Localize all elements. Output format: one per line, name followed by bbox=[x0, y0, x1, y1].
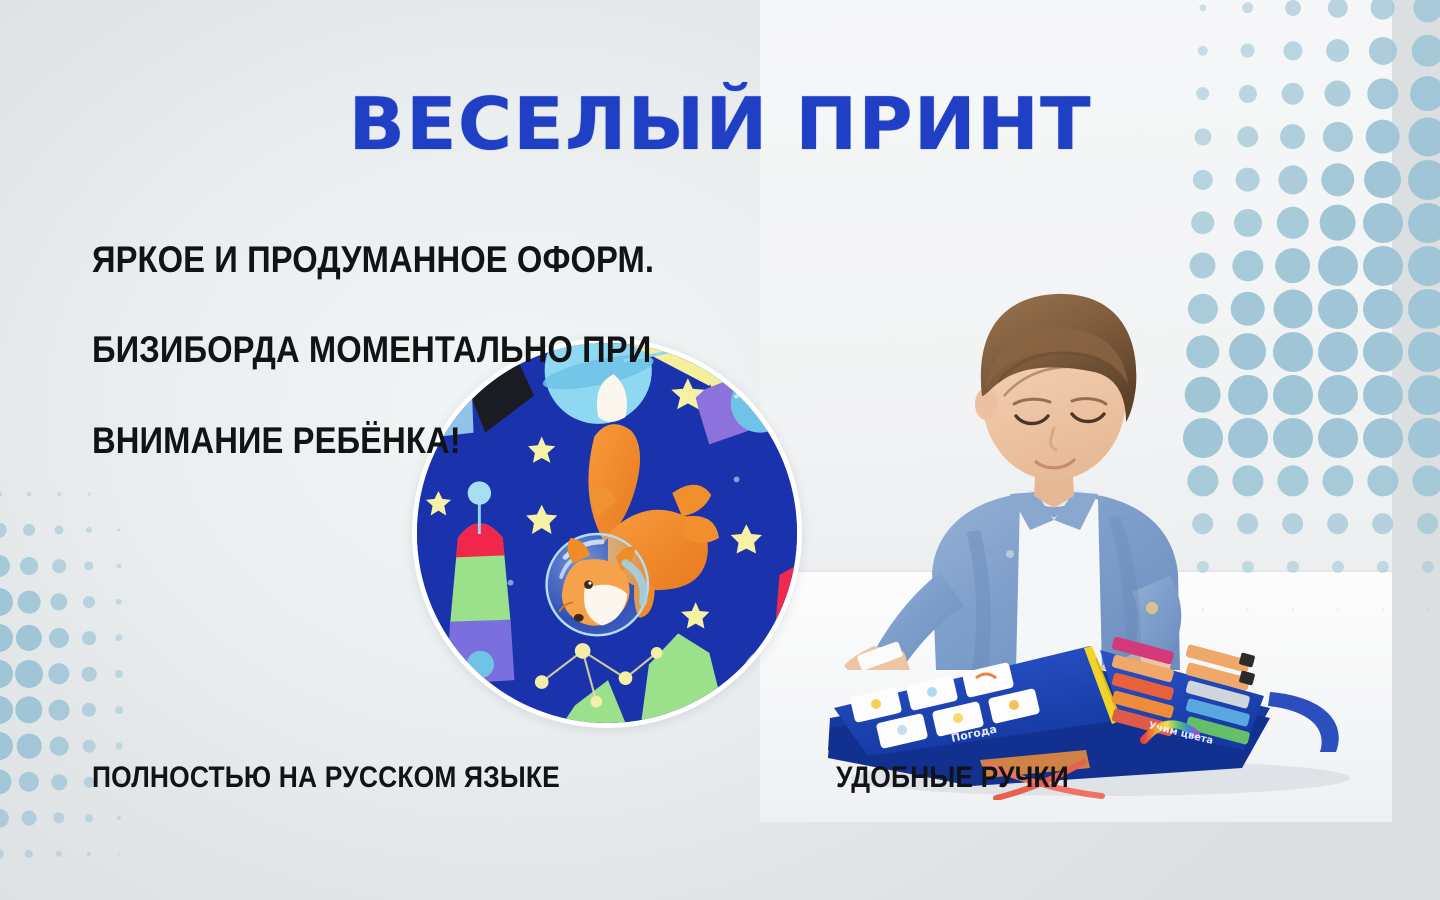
page-title: ВЕСЕЛЫЙ ПРИНТ bbox=[0, 88, 1440, 160]
promo-banner: Погода Учим цвета bbox=[0, 0, 1440, 900]
halftone-dots-bottom-left bbox=[0, 440, 214, 900]
description-line-1: ЯРКОЕ И ПРОДУМАННОЕ ОФОРМ. bbox=[92, 237, 712, 282]
description-text: ЯРКОЕ И ПРОДУМАННОЕ ОФОРМ. БИЗИБОРДА МОМ… bbox=[92, 192, 712, 508]
caption-russian-language: ПОЛНОСТЬЮ НА РУССКОМ ЯЗЫКЕ bbox=[92, 763, 560, 793]
caption-handles: УДОБНЫЕ РУЧКИ bbox=[836, 763, 1069, 793]
description-line-3: ВНИМАНИЕ РЕБЁНКА! bbox=[92, 418, 712, 463]
description-line-2: БИЗИБОРДА МОМЕНТАЛЬНО ПРИ bbox=[92, 327, 712, 372]
